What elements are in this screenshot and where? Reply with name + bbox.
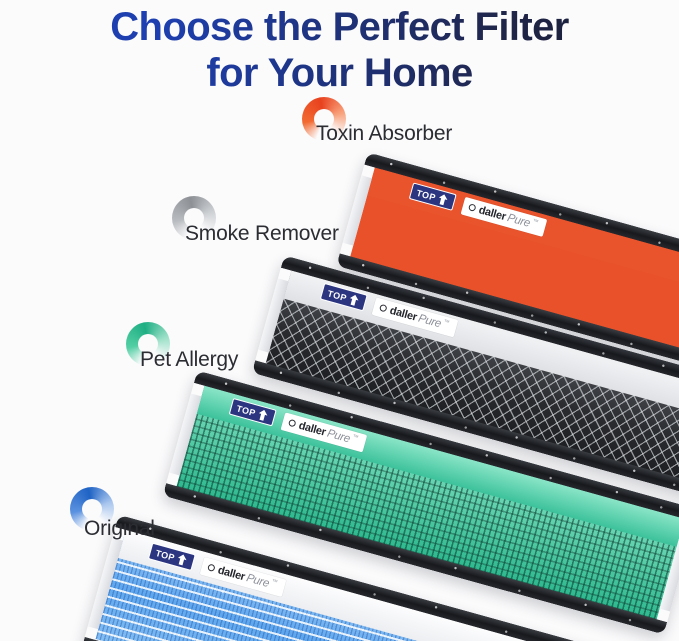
top-badge-label: TOP — [415, 188, 437, 203]
up-arrow-icon — [437, 193, 449, 206]
top-badge-label: TOP — [235, 403, 257, 418]
top-badge-label: TOP — [155, 548, 177, 563]
trademark-icon: ™ — [532, 218, 539, 225]
page-title: Choose the Perfect Filter for Your Home — [0, 4, 679, 96]
brand-circle-icon — [207, 563, 216, 572]
title-line-2: for Your Home — [0, 50, 679, 96]
label-smoke-remover: Smoke Remover — [185, 222, 339, 246]
brand-name-primary: daller — [477, 204, 507, 223]
label-toxin-absorber: Toxin Absorber — [316, 122, 452, 146]
trademark-icon: ™ — [271, 578, 278, 585]
brand-name-primary: daller — [217, 564, 247, 583]
infographic-canvas: Choose the Perfect Filter for Your Home … — [0, 0, 679, 641]
brand-circle-icon — [287, 419, 296, 428]
label-original: Original — [84, 517, 155, 541]
brand-name-primary: daller — [388, 304, 418, 323]
label-pet-allergy: Pet Allergy — [140, 348, 238, 372]
brand-name-secondary: Pure — [417, 312, 442, 330]
brand-name-secondary: Pure — [326, 427, 351, 445]
top-badge-label: TOP — [326, 288, 348, 303]
brand-name-secondary: Pure — [245, 572, 270, 590]
brand-circle-icon — [468, 203, 477, 212]
brand-name-primary: daller — [297, 419, 327, 438]
up-arrow-icon — [348, 294, 360, 307]
title-line-1: Choose the Perfect Filter — [0, 4, 679, 50]
brand-circle-icon — [379, 304, 388, 313]
up-arrow-icon — [176, 553, 188, 566]
up-arrow-icon — [257, 409, 269, 422]
trademark-icon: ™ — [352, 434, 359, 441]
trademark-icon: ™ — [443, 319, 450, 326]
brand-name-secondary: Pure — [506, 212, 531, 230]
